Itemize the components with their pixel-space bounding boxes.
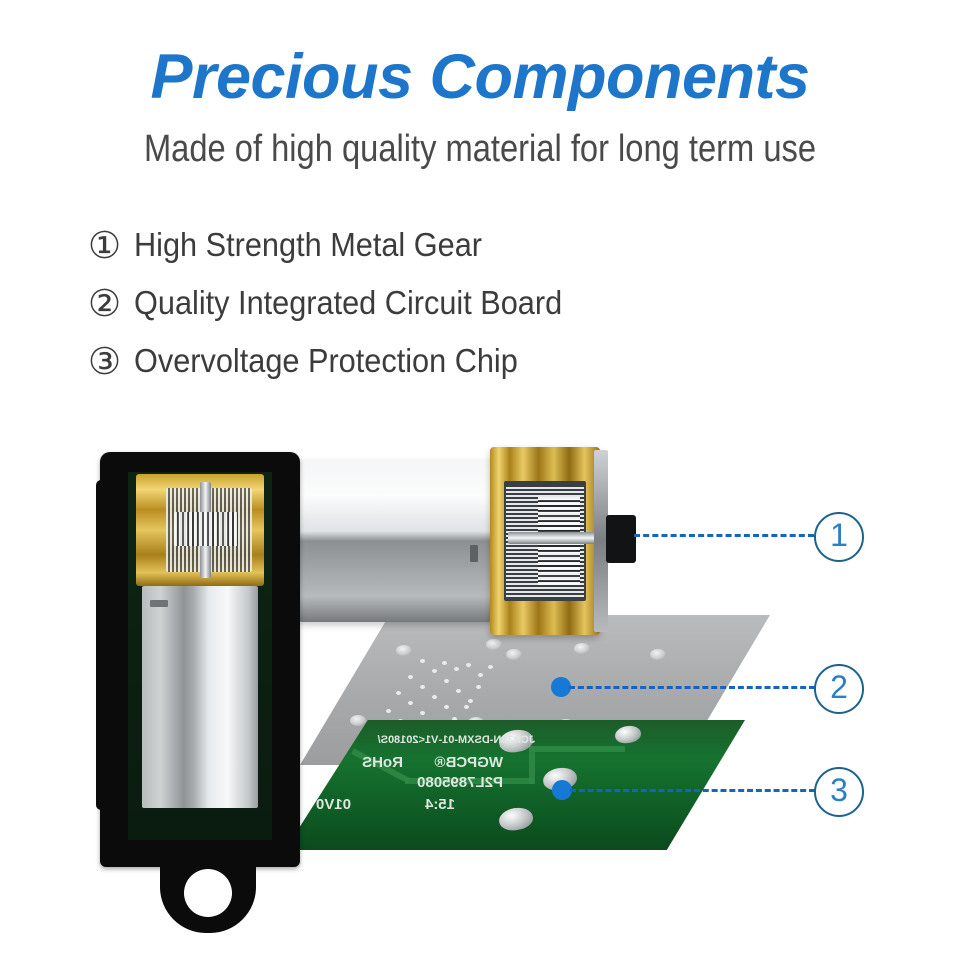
pcb-rohs-mark: RoHS [362, 754, 403, 771]
callout-dot-3 [552, 780, 572, 800]
product-infographic: Precious Components Made of high quality… [0, 0, 960, 960]
pcb-revision: 15:4 [425, 796, 455, 813]
bracket-window [128, 472, 272, 840]
circled-number-1-icon: ① [88, 227, 134, 264]
callout-line-1 [634, 534, 814, 537]
page-subtitle: Made of high quality material for long t… [67, 128, 893, 171]
list-item: ③ Overvoltage Protection Chip [88, 332, 788, 390]
pcb-version: 01V0 [316, 796, 351, 813]
callout-marker-3: 3 [814, 767, 864, 817]
bracket-notch [96, 480, 106, 810]
feature-label: Quality Integrated Circuit Board [134, 284, 562, 322]
feature-label: Overvoltage Protection Chip [134, 342, 518, 380]
page-title: Precious Components [0, 44, 960, 110]
pcb-part-line: JCP38N-DSXM-01-V1<20180S/ [378, 734, 535, 746]
feature-list: ① High Strength Metal Gear ② Quality Int… [88, 216, 788, 390]
gear-teeth-icon [174, 512, 238, 546]
gear-shaft [508, 532, 600, 544]
callout-line-2 [569, 686, 815, 689]
callout-dot-2 [551, 677, 571, 697]
list-item: ② Quality Integrated Circuit Board [88, 274, 788, 332]
pcb-code: P2L7895080 [417, 774, 503, 791]
callout-line-3 [570, 789, 815, 792]
motor-vent [150, 600, 168, 607]
pcb-brand-mark: WGPCB® [434, 754, 503, 771]
vertical-gearbox [136, 474, 264, 586]
horizontal-motor-body [295, 460, 495, 622]
circled-number-3-icon: ③ [88, 343, 134, 380]
vertical-motor-body [142, 586, 258, 808]
feature-label: High Strength Metal Gear [134, 226, 482, 264]
gear-output-tip [606, 515, 636, 563]
callout-marker-2: 2 [814, 664, 864, 714]
product-photo: JCP38N-DSXM-01-V1<20180S/ RoHS WGPCB® P2… [0, 420, 960, 960]
callout-marker-1: 1 [814, 512, 864, 562]
circled-number-2-icon: ② [88, 285, 134, 322]
motor-vent [470, 545, 478, 562]
bracket-mount-hole [184, 869, 232, 917]
list-item: ① High Strength Metal Gear [88, 216, 788, 274]
